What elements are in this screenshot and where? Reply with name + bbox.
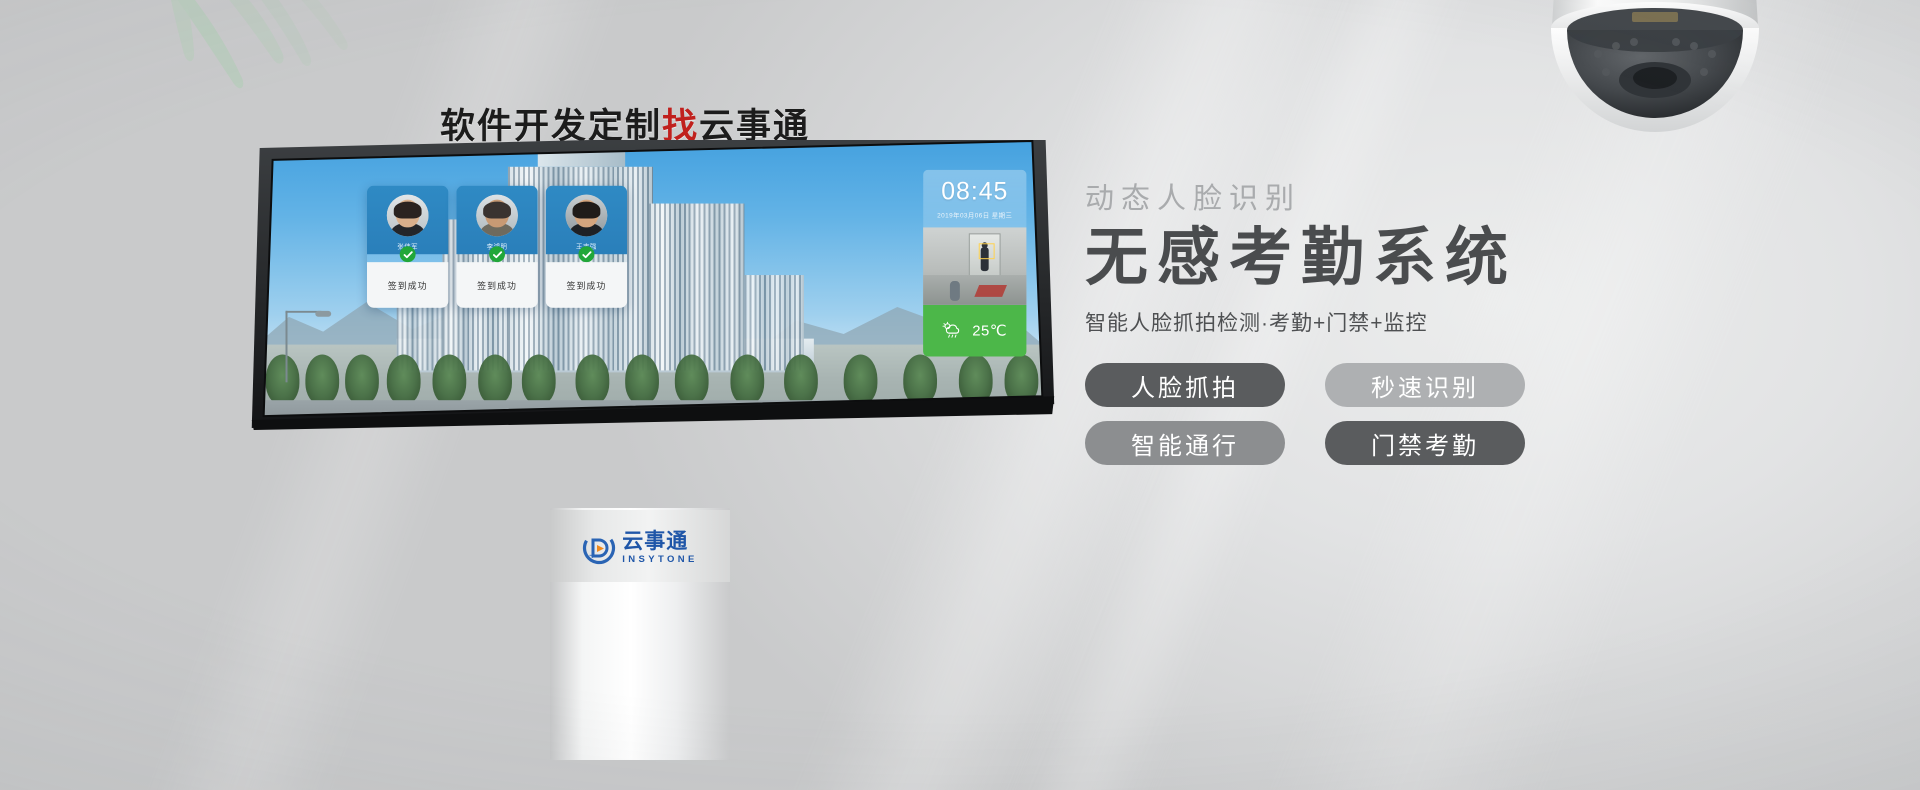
feature-tag-list: 人脸抓拍 秒速识别 智能通行 门禁考勤: [1085, 363, 1845, 465]
kiosk-bezel: 张伟军 签到成功: [245, 140, 1055, 430]
brand-logo: + 云事通 INSYTONE: [582, 531, 698, 565]
kiosk-device: + 云事通 INSYTONE: [245, 140, 1055, 760]
attendance-card-header: 李鸿明: [456, 186, 537, 255]
screen-streetlight: [286, 311, 288, 383]
attendance-card[interactable]: 王志强 签到成功: [546, 186, 627, 308]
weather-widget: 25℃: [923, 305, 1026, 357]
avatar: [387, 195, 429, 237]
svg-text:+: +: [589, 551, 597, 561]
attendance-status-text: 签到成功: [388, 279, 428, 292]
dome-camera-icon: [1520, 0, 1790, 143]
palm-leaf-icon: [150, 0, 410, 120]
feature-tag-instant-recognition[interactable]: 秒速识别: [1325, 363, 1525, 407]
clock-time: 08:45: [923, 180, 1026, 205]
cctv-person: [950, 281, 960, 301]
hero-subtitle: 智能人脸抓拍检测·考勤+门禁+监控: [1085, 307, 1845, 337]
avatar: [476, 195, 518, 237]
brand-name-cn: 云事通: [622, 531, 698, 552]
attendance-card-list: 张伟军 签到成功: [367, 186, 627, 308]
avatar: [566, 195, 608, 237]
weather-temperature: 25℃: [972, 322, 1007, 340]
clock-widget: 08:45 2019年03月06日 星期三: [923, 170, 1026, 228]
attendance-card-body: 签到成功: [546, 262, 627, 308]
hero-kicker: 动态人脸识别: [1085, 175, 1845, 217]
success-check-icon: [489, 246, 505, 262]
hero-copy: 动态人脸识别 无感考勤系统 智能人脸抓拍检测·考勤+门禁+监控 人脸抓拍 秒速识…: [1085, 175, 1845, 465]
attendance-status-text: 签到成功: [567, 279, 607, 292]
attendance-card-header: 张伟军: [367, 186, 448, 255]
success-check-icon: [578, 246, 594, 262]
feature-tag-face-capture[interactable]: 人脸抓拍: [1085, 363, 1285, 407]
screen-side-panel: 08:45 2019年03月06日 星期三: [923, 170, 1026, 357]
cctv-floor-mat: [974, 285, 1007, 297]
hero-banner: 软件开发定制找云事通 + 云事通 INSYTONE: [0, 0, 1920, 790]
attendance-card-header: 王志强: [546, 186, 627, 255]
feature-tag-access-attendance[interactable]: 门禁考勤: [1325, 421, 1525, 465]
attendance-status-text: 签到成功: [477, 279, 517, 292]
face-detection-box: [979, 243, 995, 259]
cctv-floor: [923, 275, 1026, 305]
cloud-rain-icon: [942, 322, 962, 340]
cctv-preview[interactable]: [923, 227, 1026, 304]
brand-logo-text: 云事通 INSYTONE: [622, 531, 698, 565]
attendance-card[interactable]: 李鸿明 签到成功: [456, 186, 537, 308]
kiosk-logo-plate: + 云事通 INSYTONE: [550, 510, 730, 582]
page-title: 无感考勤系统: [1085, 225, 1845, 291]
attendance-card-body: 签到成功: [456, 262, 537, 308]
feature-tag-smart-access[interactable]: 智能通行: [1085, 421, 1285, 465]
success-check-icon: [400, 246, 416, 262]
insytone-logo-icon: +: [582, 531, 616, 565]
brand-name-en: INSYTONE: [622, 555, 698, 565]
attendance-card[interactable]: 张伟军 签到成功: [367, 186, 448, 308]
attendance-card-body: 签到成功: [367, 262, 448, 308]
clock-date: 2019年03月06日 星期三: [923, 210, 1026, 220]
